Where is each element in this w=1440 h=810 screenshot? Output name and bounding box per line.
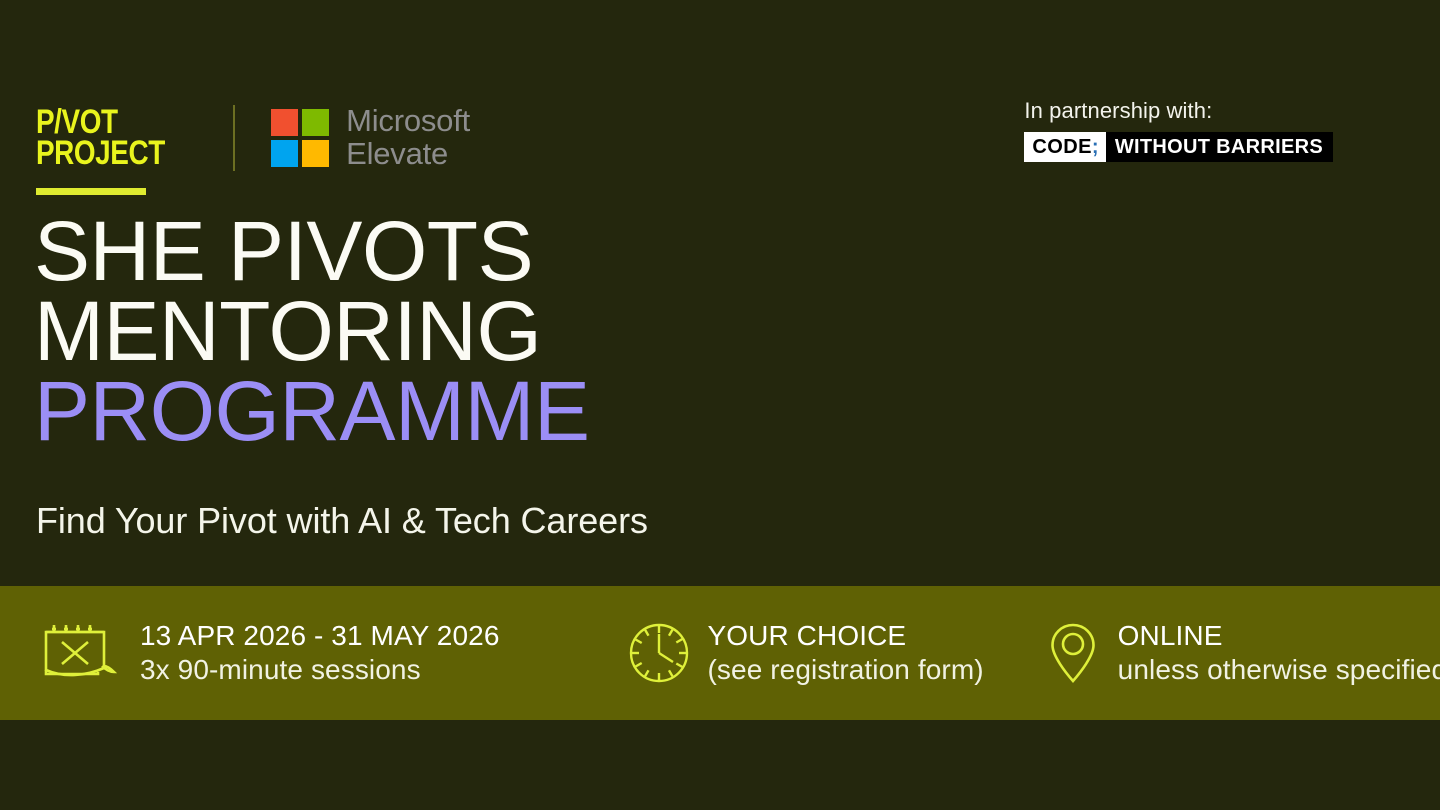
info-primary-location: ONLINE — [1118, 620, 1223, 651]
microsoft-squares-icon — [271, 109, 329, 167]
headline-subtitle: Find Your Pivot with AI & Tech Careers — [36, 500, 648, 542]
location-pin-icon — [1046, 621, 1100, 685]
cwb-code-block: CODE; — [1024, 132, 1105, 162]
info-item-location: ONLINE unless otherwise specified — [984, 586, 1440, 720]
headline-line-1: SHE PIVOTS — [34, 212, 590, 292]
headline-line-2: MENTORING — [34, 292, 590, 372]
cwb-without-barriers-text: WITHOUT BARRIERS — [1106, 132, 1333, 162]
event-banner: P/VOT PROJECT Microsoft Elevate In partn… — [0, 0, 1440, 810]
clock-icon — [628, 622, 690, 684]
info-secondary-dates: 3x 90-minute sessions — [140, 654, 421, 685]
headline-line-3: PROGRAMME — [34, 372, 590, 452]
calendar-icon — [40, 622, 118, 684]
info-secondary-location: unless otherwise specified — [1118, 654, 1440, 685]
brand-logo-row: P/VOT PROJECT Microsoft Elevate — [36, 92, 470, 184]
microsoft-square-green — [302, 109, 329, 136]
info-primary-time: YOUR CHOICE — [708, 620, 907, 651]
info-item-dates: 13 APR 2026 - 31 MAY 2026 3x 90-minute s… — [0, 586, 500, 720]
event-info-bar: 13 APR 2026 - 31 MAY 2026 3x 90-minute s… — [0, 586, 1440, 720]
info-item-time: YOUR CHOICE (see registration form) — [500, 586, 984, 720]
info-text-time: YOUR CHOICE (see registration form) — [708, 619, 984, 687]
logo-divider — [233, 105, 235, 171]
info-text-location: ONLINE unless otherwise specified — [1118, 619, 1440, 687]
microsoft-square-yellow — [302, 140, 329, 167]
info-primary-dates: 13 APR 2026 - 31 MAY 2026 — [140, 620, 500, 651]
brand-underline-rule — [36, 188, 146, 195]
pivot-logo-line-2: PROJECT — [36, 138, 165, 169]
microsoft-elevate-logo: Microsoft Elevate — [271, 105, 470, 171]
cwb-code-text: CODE — [1032, 136, 1091, 159]
cwb-semicolon: ; — [1092, 136, 1099, 159]
code-without-barriers-logo: CODE; WITHOUT BARRIERS — [1024, 132, 1333, 162]
partnership-block: In partnership with: CODE; WITHOUT BARRI… — [1024, 98, 1333, 162]
info-secondary-time: (see registration form) — [708, 654, 984, 685]
microsoft-square-blue — [271, 140, 298, 167]
pivot-project-logo: P/VOT PROJECT — [36, 107, 193, 170]
partnership-label: In partnership with: — [1024, 98, 1333, 124]
microsoft-wordmark-line-2: Elevate — [346, 138, 470, 171]
microsoft-wordmark-line-1: Microsoft — [346, 105, 470, 138]
headline-group: SHE PIVOTS MENTORING PROGRAMME — [34, 212, 590, 451]
info-text-dates: 13 APR 2026 - 31 MAY 2026 3x 90-minute s… — [140, 619, 500, 687]
microsoft-square-red — [271, 109, 298, 136]
microsoft-elevate-wordmark: Microsoft Elevate — [346, 105, 470, 171]
